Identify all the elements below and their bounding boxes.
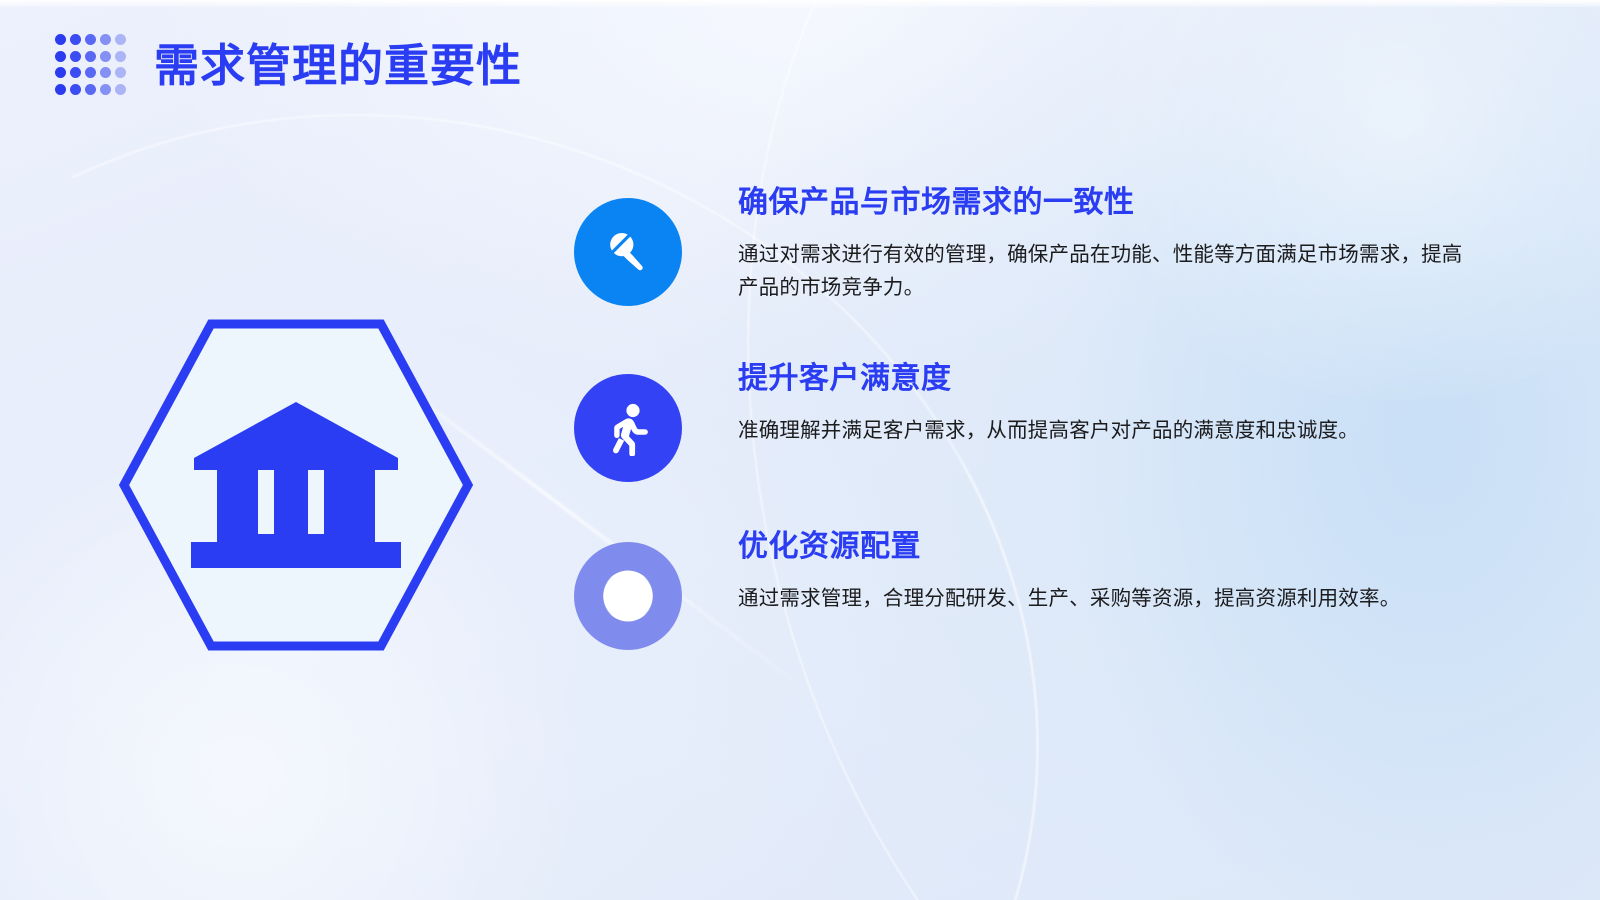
walking-person-icon [574, 374, 682, 482]
dot [115, 51, 126, 62]
dot [100, 67, 111, 78]
dot [85, 51, 96, 62]
dot [55, 67, 66, 78]
hexagon-svg [118, 318, 474, 652]
dot [100, 51, 111, 62]
dot [115, 67, 126, 78]
dot [85, 67, 96, 78]
slide-header: 需求管理的重要性 [55, 30, 522, 100]
feature-item-2[interactable]: 提升客户满意度 准确理解并满足客户需求，从而提高客户对产品的满意度和忠诚度。 [574, 356, 1474, 482]
page-title: 需求管理的重要性 [154, 43, 522, 88]
dot [100, 84, 111, 95]
feature-desc-2: 准确理解并满足客户需求，从而提高客户对产品的满意度和忠诚度。 [738, 414, 1468, 447]
dot [70, 34, 81, 45]
feature-title-2: 提升客户满意度 [738, 360, 1468, 398]
feature-title-3: 优化资源配置 [738, 528, 1468, 566]
dot [85, 84, 96, 95]
dot-grid-decoration [55, 34, 130, 100]
dot [70, 51, 81, 62]
feature-item-1[interactable]: 确保产品与市场需求的一致性 通过对需求进行有效的管理，确保产品在功能、性能等方面… [574, 180, 1474, 306]
slide-canvas: 需求管理的重要性 [0, 0, 1600, 900]
dot [115, 34, 126, 45]
baseball-icon [574, 542, 682, 650]
feature-title-1: 确保产品与市场需求的一致性 [738, 184, 1468, 222]
dot [55, 51, 66, 62]
feature-item-3[interactable]: 优化资源配置 通过需求管理，合理分配研发、生产、采购等资源，提高资源利用效率。 [574, 524, 1474, 650]
dot [70, 84, 81, 95]
feature-desc-3: 通过需求管理，合理分配研发、生产、采购等资源，提高资源利用效率。 [738, 582, 1468, 615]
hexagon-emblem [118, 318, 474, 652]
dot [85, 34, 96, 45]
microphone-icon [574, 198, 682, 306]
dot [55, 34, 66, 45]
feature-desc-1: 通过对需求进行有效的管理，确保产品在功能、性能等方面满足市场需求，提高产品的市场… [738, 238, 1468, 304]
dot [55, 84, 66, 95]
background-top-strip [0, 0, 1600, 7]
dot [100, 34, 111, 45]
feature-text-1: 确保产品与市场需求的一致性 通过对需求进行有效的管理，确保产品在功能、性能等方面… [738, 180, 1468, 304]
dot [70, 67, 81, 78]
feature-list: 确保产品与市场需求的一致性 通过对需求进行有效的管理，确保产品在功能、性能等方面… [574, 180, 1474, 650]
dot [115, 84, 126, 95]
feature-text-2: 提升客户满意度 准确理解并满足客户需求，从而提高客户对产品的满意度和忠诚度。 [738, 356, 1468, 447]
feature-text-3: 优化资源配置 通过需求管理，合理分配研发、生产、采购等资源，提高资源利用效率。 [738, 524, 1468, 615]
